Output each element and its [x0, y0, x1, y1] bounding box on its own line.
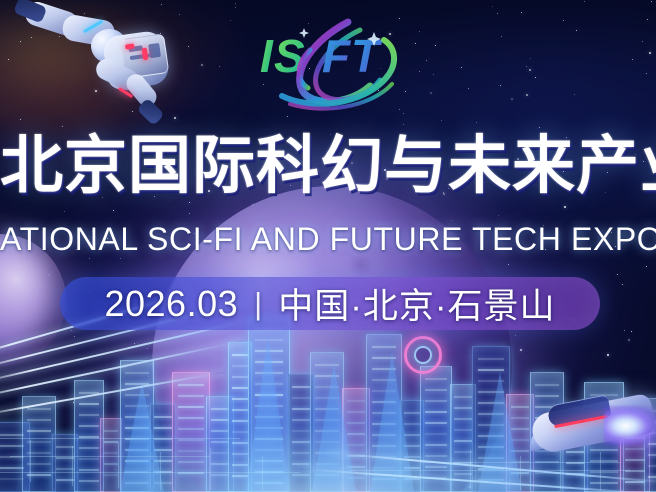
- date-location-pill: 2026.03 | 中国·北京·石景山: [60, 277, 600, 330]
- svg-text:F: F: [322, 30, 352, 82]
- banner-title-english: ATIONAL SCI-FI AND FUTURE TECH EXPO BEIJ: [0, 219, 656, 259]
- date-location-content: 2026.03 | 中国·北京·石景山: [104, 278, 555, 329]
- date-separator: |: [254, 286, 262, 322]
- svg-text:I: I: [260, 30, 274, 82]
- flying-hovercar: [514, 378, 656, 470]
- svg-text:T: T: [351, 30, 383, 82]
- event-location: 中国·北京·石景山: [278, 278, 555, 329]
- isft-logo: I S F T: [252, 14, 408, 114]
- hovercar-thruster: [604, 406, 656, 446]
- expo-banner: I S F T 北京国际科幻与未来产业博 ATIONAL SCI-FI AND …: [0, 0, 656, 492]
- banner-title-chinese: 北京国际科幻与未来产业博: [0, 130, 656, 202]
- event-date: 2026.03: [104, 283, 238, 325]
